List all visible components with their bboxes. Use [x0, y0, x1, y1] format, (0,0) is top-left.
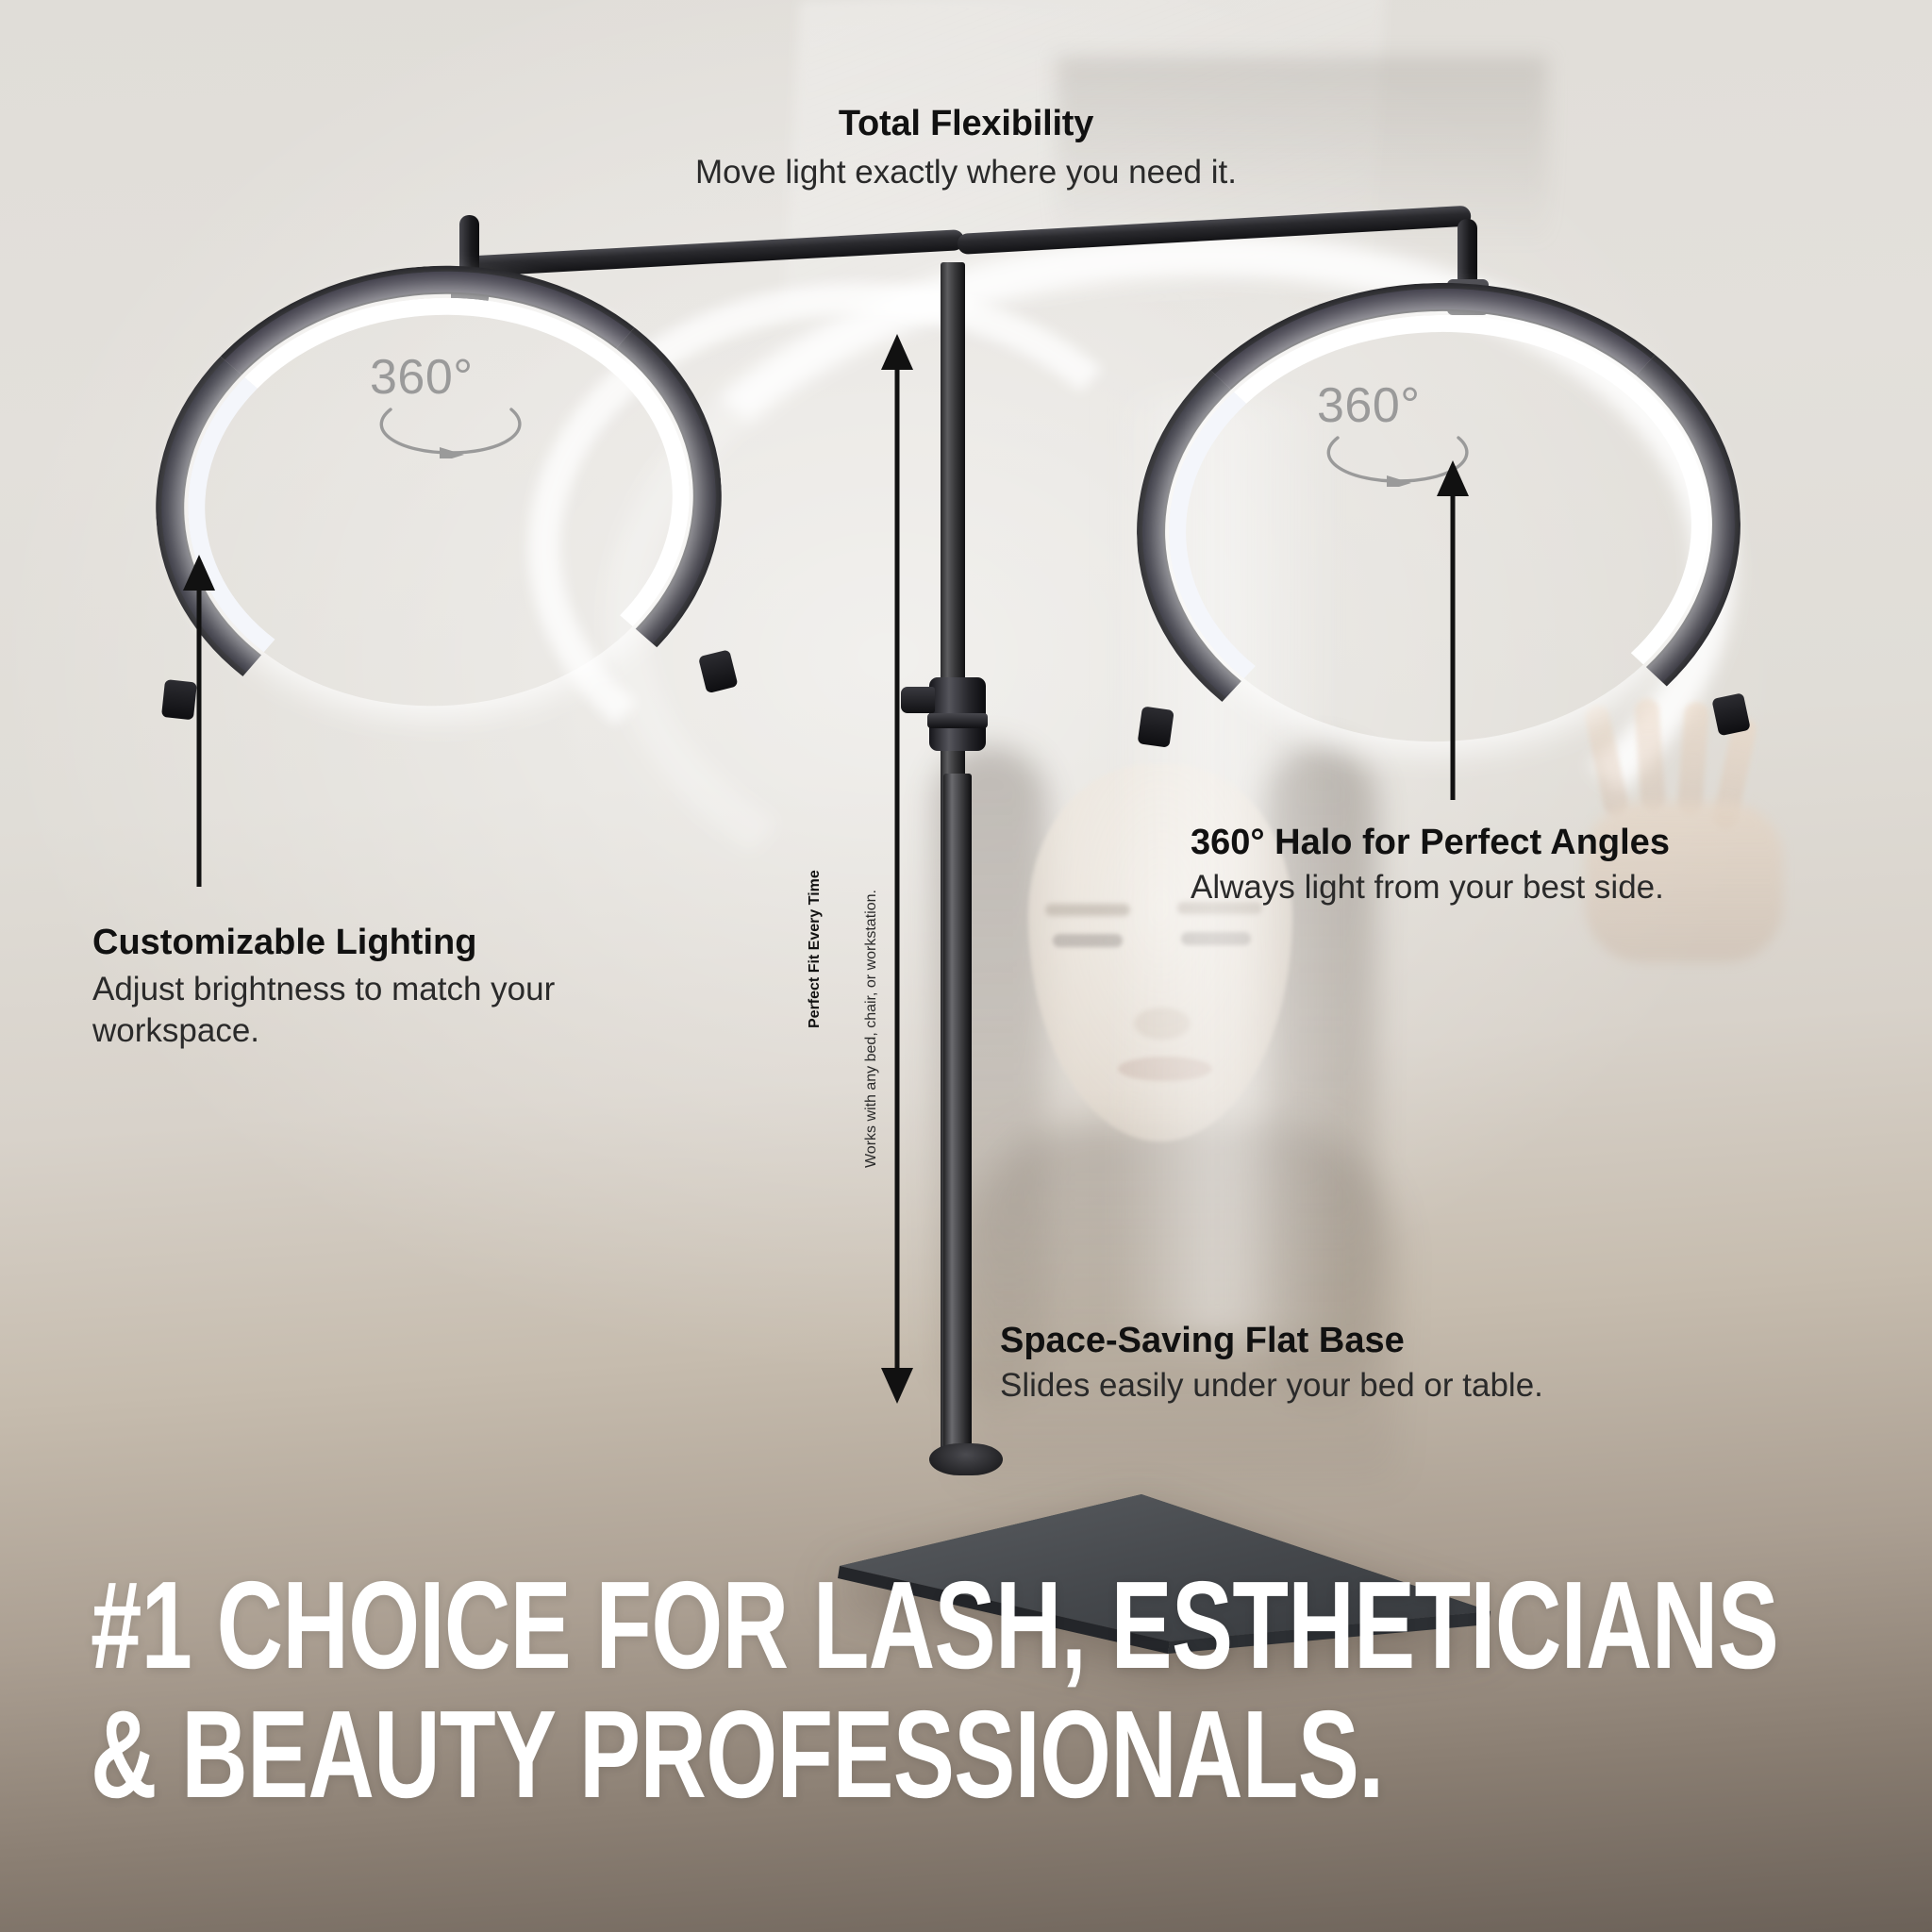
bottom-headline: #1 CHOICE FOR LASH, ESTHETICIANS & BEAUT…: [91, 1560, 1319, 1820]
callout-top-flexibility: Total Flexibility Move light exactly whe…: [0, 104, 1932, 192]
callout-left-subtitle: Adjust brightness to match your workspac…: [92, 969, 677, 1052]
infographic-canvas: 360° 360° Total Flexibi: [0, 0, 1932, 1932]
callout-right-title: 360° Halo for Perfect Angles: [1191, 823, 1907, 863]
callout-customizable-lighting: Customizable Lighting Adjust brightness …: [92, 923, 677, 1052]
arrow-up-down-icon: [881, 334, 913, 1404]
callout-base-title: Space-Saving Flat Base: [1000, 1321, 1717, 1361]
callout-top-subtitle: Move light exactly where you need it.: [0, 154, 1932, 192]
headline-line-1: #1 CHOICE FOR LASH, ESTHETICIANS: [91, 1560, 1319, 1690]
arrow-up-icon: [183, 555, 215, 887]
headline-line-2: & BEAUTY PROFESSIONALS.: [91, 1690, 1319, 1819]
callout-flat-base: Space-Saving Flat Base Slides easily und…: [1000, 1321, 1717, 1405]
arrow-up-icon: [1437, 460, 1469, 800]
callout-top-title: Total Flexibility: [0, 104, 1932, 144]
callout-vertical-subtitle: Works with any bed, chair, or workstatio…: [863, 890, 880, 1168]
callout-360-halo: 360° Halo for Perfect Angles Always ligh…: [1191, 823, 1907, 907]
callout-base-subtitle: Slides easily under your bed or table.: [1000, 1367, 1717, 1405]
callout-vertical-title: Perfect Fit Every Time: [807, 870, 824, 1028]
callout-right-subtitle: Always light from your best side.: [1191, 869, 1907, 907]
callout-left-title: Customizable Lighting: [92, 923, 677, 963]
